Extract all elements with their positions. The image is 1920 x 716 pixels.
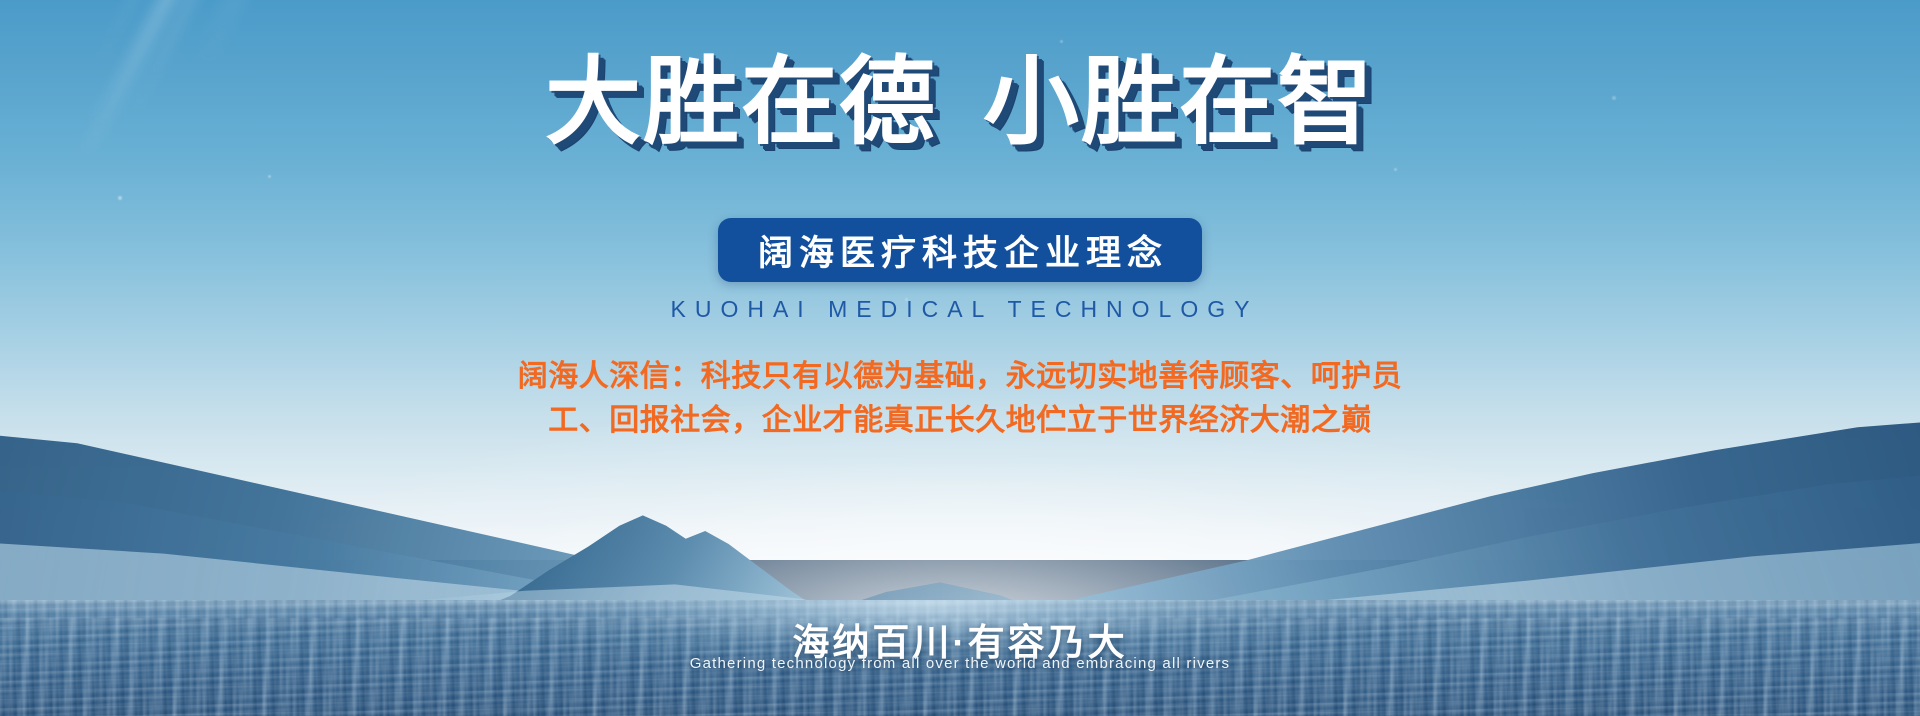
hero-banner: 大胜在德小胜在智 阔海医疗科技企业理念 KUOHAI MEDICAL TECHN… bbox=[0, 0, 1920, 716]
slogan-english: Gathering technology from all over the w… bbox=[0, 655, 1920, 672]
philosophy-paragraph-line-2: 工、回报社会，企业才能真正长久地伫立于世界经济大潮之巅 bbox=[0, 399, 1920, 443]
subtitle-english: KUOHAI MEDICAL TECHNOLOGY bbox=[0, 296, 1920, 323]
philosophy-paragraph: 阔海人深信：科技只有以德为基础，永远切实地善待顾客、呵护员 工、回报社会，企业才… bbox=[0, 355, 1920, 443]
main-title-left: 大胜在德 bbox=[545, 49, 937, 156]
company-philosophy-badge-label: 阔海医疗科技企业理念 bbox=[752, 225, 1168, 276]
main-title-right: 小胜在智 bbox=[983, 49, 1375, 156]
banner-content: 大胜在德小胜在智 阔海医疗科技企业理念 KUOHAI MEDICAL TECHN… bbox=[0, 0, 1920, 716]
main-title: 大胜在德小胜在智 bbox=[0, 48, 1920, 158]
philosophy-paragraph-line-1: 阔海人深信：科技只有以德为基础，永远切实地善待顾客、呵护员 bbox=[0, 355, 1920, 399]
company-philosophy-badge: 阔海医疗科技企业理念 bbox=[718, 218, 1202, 282]
